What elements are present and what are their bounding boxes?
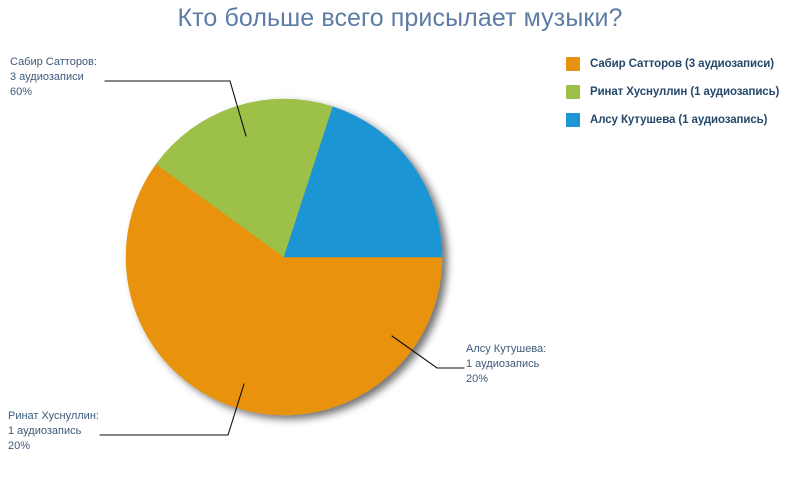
legend-item-label: Сабир Сатторов (3 аудиозаписи) <box>590 58 774 70</box>
legend-swatch <box>566 113 580 127</box>
legend-item[interactable]: Ринат Хуснуллин (1 аудиозапись) <box>566 78 798 106</box>
legend-swatch <box>566 57 580 71</box>
legend-swatch <box>566 85 580 99</box>
callout-alsu: Алсу Кутушева: 1 аудиозапись 20% <box>466 342 546 387</box>
pie-slice-group <box>126 99 442 415</box>
callout-alsu-value: 1 аудиозапись <box>466 357 546 372</box>
callout-sabir-value: 3 аудиозаписи <box>10 70 97 85</box>
callout-rinat-value: 1 аудиозапись <box>8 424 99 439</box>
callout-sabir: Сабир Сатторов: 3 аудиозаписи 60% <box>10 55 97 100</box>
callout-rinat-percent: 20% <box>8 439 99 454</box>
legend-item-label: Алсу Кутушева (1 аудиозапись) <box>590 114 767 126</box>
callout-alsu-name: Алсу Кутушева: <box>466 342 546 357</box>
callout-sabir-percent: 60% <box>10 85 97 100</box>
chart-legend: Сабир Сатторов (3 аудиозаписи)Ринат Хусн… <box>566 50 798 134</box>
callout-sabir-name: Сабир Сатторов: <box>10 55 97 70</box>
legend-item[interactable]: Сабир Сатторов (3 аудиозаписи) <box>566 50 798 78</box>
callout-alsu-percent: 20% <box>466 372 546 387</box>
callout-rinat-name: Ринат Хуснуллин: <box>8 409 99 424</box>
chart-canvas: Кто больше всего присылает музыки? Сабир… <box>0 0 800 500</box>
callout-rinat: Ринат Хуснуллин: 1 аудиозапись 20% <box>8 409 99 454</box>
legend-item-label: Ринат Хуснуллин (1 аудиозапись) <box>590 86 779 98</box>
legend-item[interactable]: Алсу Кутушева (1 аудиозапись) <box>566 106 798 134</box>
